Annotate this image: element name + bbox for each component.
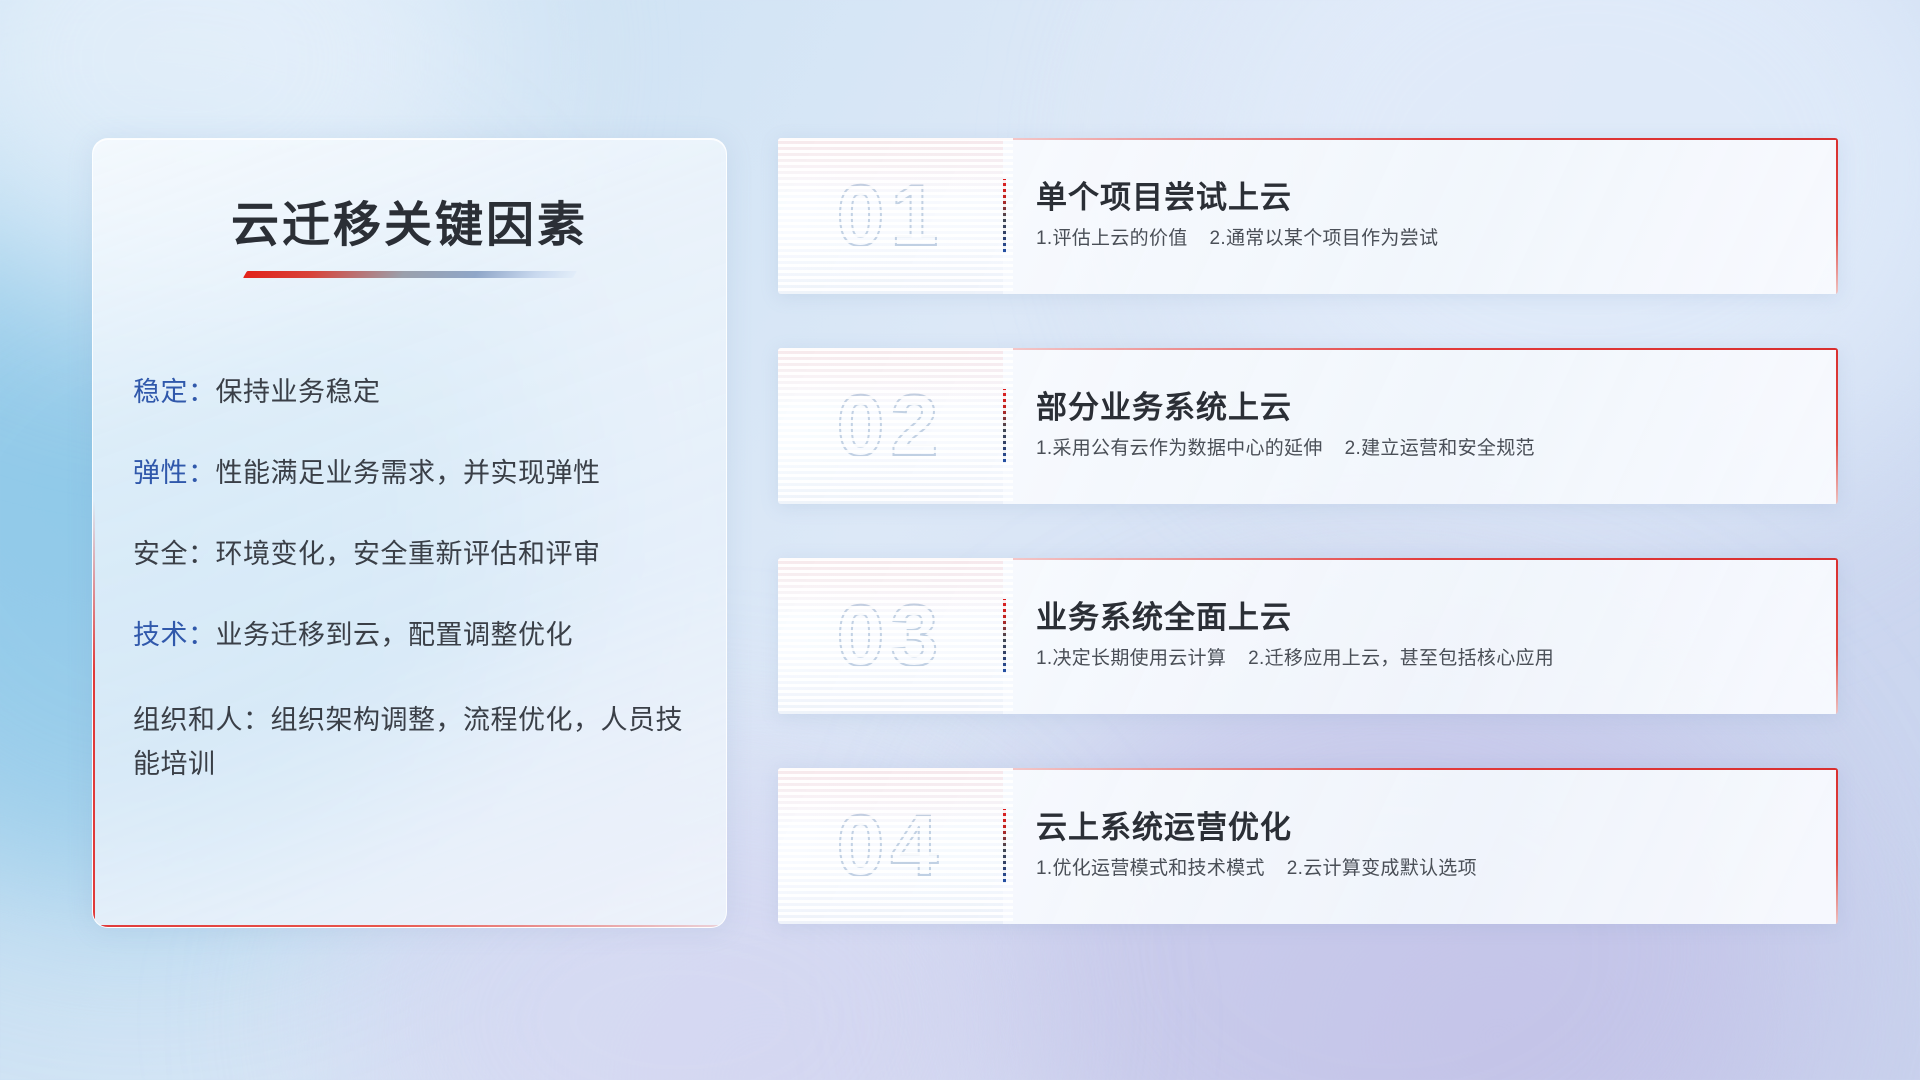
card-subtitle-item-2: 2.建立运营和安全规范 bbox=[1345, 438, 1535, 459]
factor-key: 技术： bbox=[133, 620, 216, 650]
card-subtitle-item-2: 2.迁移应用上云，甚至包括核心应用 bbox=[1248, 648, 1554, 669]
card-subtitle: 1.采用公有云作为数据中心的延伸2.建立运营和安全规范 bbox=[1036, 437, 1814, 462]
card-title: 单个项目尝试上云 bbox=[1036, 181, 1814, 215]
factor-value: 性能满足业务需求，并实现弹性 bbox=[216, 458, 601, 488]
factor-row: 安全：环境变化，安全重新评估和评审 bbox=[133, 537, 696, 571]
title-underline-rule bbox=[243, 271, 577, 278]
card-subtitle: 1.决定长期使用云计算2.迁移应用上云，甚至包括核心应用 bbox=[1036, 647, 1814, 672]
card-title: 云上系统运营优化 bbox=[1036, 811, 1814, 845]
factor-key: 安全： bbox=[133, 539, 216, 569]
stage-number: 02 bbox=[837, 383, 945, 469]
factor-row: 稳定：保持业务稳定 bbox=[133, 375, 696, 409]
card-accent-divider bbox=[1003, 389, 1006, 463]
card-text-block: 部分业务系统上云1.采用公有云作为数据中心的延伸2.建立运营和安全规范 bbox=[1036, 391, 1838, 462]
card-title: 部分业务系统上云 bbox=[1036, 391, 1814, 425]
card-subtitle: 1.优化运营模式和技术模式2.云计算变成默认选项 bbox=[1036, 857, 1814, 882]
card-subtitle-item-1: 1.决定长期使用云计算 bbox=[1036, 648, 1226, 669]
card-subtitle-item-1: 1.采用公有云作为数据中心的延伸 bbox=[1036, 438, 1323, 459]
migration-stage-cards: 01单个项目尝试上云1.评估上云的价值2.通常以某个项目作为尝试02部分业务系统… bbox=[778, 138, 1838, 978]
factor-value: 环境变化，安全重新评估和评审 bbox=[216, 539, 601, 569]
factor-value: 业务迁移到云，配置调整优化 bbox=[216, 620, 574, 650]
stage-card[interactable]: 01单个项目尝试上云1.评估上云的价值2.通常以某个项目作为尝试 bbox=[778, 138, 1838, 294]
card-accent-divider bbox=[1003, 809, 1006, 883]
stage-number: 01 bbox=[837, 173, 945, 259]
factor-list: 稳定：保持业务稳定弹性：性能满足业务需求，并实现弹性安全：环境变化，安全重新评估… bbox=[133, 375, 696, 787]
key-factors-panel: 云迁移关键因素 稳定：保持业务稳定弹性：性能满足业务需求，并实现弹性安全：环境变… bbox=[92, 138, 727, 928]
stage-number-badge: 02 bbox=[778, 348, 1003, 504]
card-text-block: 业务系统全面上云1.决定长期使用云计算2.迁移应用上云，甚至包括核心应用 bbox=[1036, 601, 1838, 672]
card-text-block: 单个项目尝试上云1.评估上云的价值2.通常以某个项目作为尝试 bbox=[1036, 181, 1838, 252]
card-subtitle-item-2: 2.通常以某个项目作为尝试 bbox=[1210, 228, 1439, 249]
stage-card[interactable]: 03业务系统全面上云1.决定长期使用云计算2.迁移应用上云，甚至包括核心应用 bbox=[778, 558, 1838, 714]
card-subtitle-item-1: 1.评估上云的价值 bbox=[1036, 228, 1188, 249]
stage-number: 03 bbox=[837, 593, 945, 679]
page-title: 云迁移关键因素 bbox=[93, 185, 726, 255]
factor-key: 稳定： bbox=[133, 377, 216, 407]
factor-key: 组织和人： bbox=[133, 705, 271, 735]
card-accent-divider bbox=[1003, 179, 1006, 253]
stage-number-badge: 01 bbox=[778, 138, 1003, 294]
card-subtitle-item-1: 1.优化运营模式和技术模式 bbox=[1036, 858, 1265, 879]
card-text-block: 云上系统运营优化1.优化运营模式和技术模式2.云计算变成默认选项 bbox=[1036, 811, 1838, 882]
factor-row: 组织和人：组织架构调整，流程优化，人员技能培训 bbox=[133, 699, 696, 786]
card-accent-divider bbox=[1003, 599, 1006, 673]
stage-number: 04 bbox=[837, 803, 945, 889]
factor-key: 弹性： bbox=[133, 458, 216, 488]
stage-card[interactable]: 02部分业务系统上云1.采用公有云作为数据中心的延伸2.建立运营和安全规范 bbox=[778, 348, 1838, 504]
factor-value: 保持业务稳定 bbox=[216, 377, 381, 407]
stage-number-badge: 04 bbox=[778, 768, 1003, 924]
factor-row: 技术：业务迁移到云，配置调整优化 bbox=[133, 618, 696, 652]
card-title: 业务系统全面上云 bbox=[1036, 601, 1814, 635]
card-subtitle-item-2: 2.云计算变成默认选项 bbox=[1287, 858, 1477, 879]
factor-row: 弹性：性能满足业务需求，并实现弹性 bbox=[133, 456, 696, 490]
card-subtitle: 1.评估上云的价值2.通常以某个项目作为尝试 bbox=[1036, 227, 1814, 252]
stage-number-badge: 03 bbox=[778, 558, 1003, 714]
stage-card[interactable]: 04云上系统运营优化1.优化运营模式和技术模式2.云计算变成默认选项 bbox=[778, 768, 1838, 924]
